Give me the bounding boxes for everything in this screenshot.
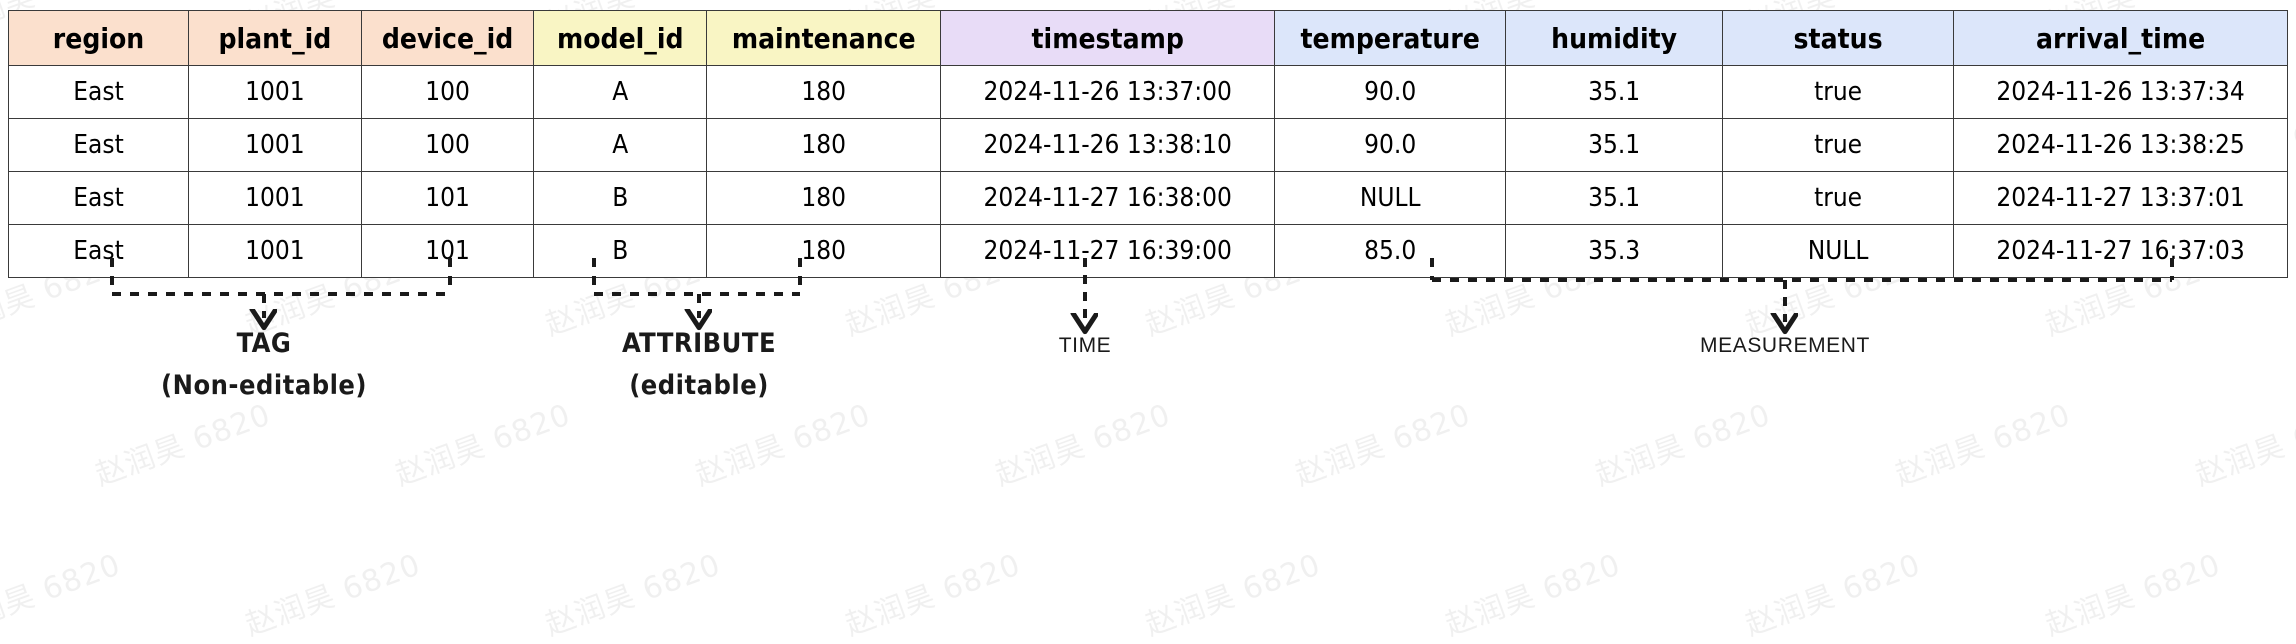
- cell-temperature: 90.0: [1275, 119, 1506, 172]
- table-row[interactable]: East 1001 100 A 180 2024-11-26 13:37:00 …: [9, 66, 2288, 119]
- cell-plant-id: 1001: [189, 66, 362, 119]
- cell-plant-id: 1001: [189, 172, 362, 225]
- cell-arrival-time: 2024-11-27 16:37:03: [1954, 225, 2288, 278]
- annotation-title-time: TIME: [1059, 334, 1112, 358]
- cell-model-id: B: [534, 225, 707, 278]
- column-header-model-id[interactable]: model_id: [534, 11, 707, 66]
- table-header: region plant_id device_id model_id maint…: [9, 11, 2288, 66]
- table-header-row: region plant_id device_id model_id maint…: [9, 11, 2288, 66]
- cell-device-id: 100: [361, 66, 534, 119]
- cell-timestamp: 2024-11-27 16:38:00: [941, 172, 1275, 225]
- data-table: region plant_id device_id model_id maint…: [8, 10, 2288, 278]
- cell-region: East: [9, 225, 189, 278]
- cell-plant-id: 1001: [189, 225, 362, 278]
- annotation-title-tag: TAG: [237, 328, 292, 359]
- column-header-device-id[interactable]: device_id: [361, 11, 534, 66]
- column-header-plant-id[interactable]: plant_id: [189, 11, 362, 66]
- cell-humidity: 35.1: [1506, 66, 1723, 119]
- column-header-arrival-time[interactable]: arrival_time: [1954, 11, 2288, 66]
- cell-arrival-time: 2024-11-26 13:37:34: [1954, 66, 2288, 119]
- table-row[interactable]: East 1001 101 B 180 2024-11-27 16:38:00 …: [9, 172, 2288, 225]
- cell-timestamp: 2024-11-27 16:39:00: [941, 225, 1275, 278]
- cell-timestamp: 2024-11-26 13:38:10: [941, 119, 1275, 172]
- column-header-temperature[interactable]: temperature: [1275, 11, 1506, 66]
- cell-status: true: [1722, 66, 1953, 119]
- column-header-status[interactable]: status: [1722, 11, 1953, 66]
- annotation-subtitle-tag: (Non-editable): [161, 370, 367, 401]
- cell-model-id: A: [534, 66, 707, 119]
- cell-humidity: 35.1: [1506, 119, 1723, 172]
- cell-model-id: A: [534, 119, 707, 172]
- cell-arrival-time: 2024-11-26 13:38:25: [1954, 119, 2288, 172]
- cell-model-id: B: [534, 172, 707, 225]
- page-root: region plant_id device_id model_id maint…: [0, 0, 2296, 566]
- cell-status: true: [1722, 119, 1953, 172]
- annotation-subtitle-attribute: (editable): [629, 370, 769, 401]
- cell-temperature: 90.0: [1275, 66, 1506, 119]
- table-row[interactable]: East 1001 100 A 180 2024-11-26 13:38:10 …: [9, 119, 2288, 172]
- cell-humidity: 35.1: [1506, 172, 1723, 225]
- cell-maintenance: 180: [707, 66, 941, 119]
- cell-region: East: [9, 66, 189, 119]
- cell-arrival-time: 2024-11-27 13:37:01: [1954, 172, 2288, 225]
- column-header-timestamp[interactable]: timestamp: [941, 11, 1275, 66]
- cell-maintenance: 180: [707, 225, 941, 278]
- column-header-humidity[interactable]: humidity: [1506, 11, 1723, 66]
- annotation-title-attribute: ATTRIBUTE: [622, 328, 776, 359]
- cell-device-id: 101: [361, 225, 534, 278]
- column-header-region[interactable]: region: [9, 11, 189, 66]
- cell-status: NULL: [1722, 225, 1953, 278]
- table-row[interactable]: East 1001 101 B 180 2024-11-27 16:39:00 …: [9, 225, 2288, 278]
- annotation-title-measurement: MEASUREMENT: [1700, 334, 1870, 358]
- cell-temperature: 85.0: [1275, 225, 1506, 278]
- cell-device-id: 100: [361, 119, 534, 172]
- cell-humidity: 35.3: [1506, 225, 1723, 278]
- cell-device-id: 101: [361, 172, 534, 225]
- cell-status: true: [1722, 172, 1953, 225]
- cell-maintenance: 180: [707, 172, 941, 225]
- cell-region: East: [9, 172, 189, 225]
- table-body: East 1001 100 A 180 2024-11-26 13:37:00 …: [9, 66, 2288, 278]
- cell-plant-id: 1001: [189, 119, 362, 172]
- cell-temperature: NULL: [1275, 172, 1506, 225]
- cell-maintenance: 180: [707, 119, 941, 172]
- cell-region: East: [9, 119, 189, 172]
- column-header-maintenance[interactable]: maintenance: [707, 11, 941, 66]
- cell-timestamp: 2024-11-26 13:37:00: [941, 66, 1275, 119]
